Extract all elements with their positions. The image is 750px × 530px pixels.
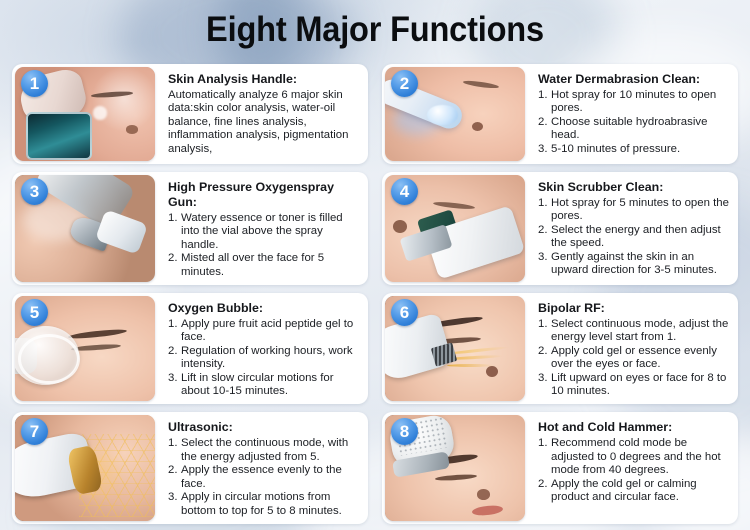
step-text: Recommend cold mode be adjusted to 0 deg… (551, 437, 730, 477)
eyebrow-shape (68, 328, 127, 340)
step-text: 5-10 minutes of pressure. (551, 143, 730, 156)
card-steps-7: 1. Select the continuous mode, with the … (168, 437, 360, 517)
step-text: Lift upward on eyes or face for 8 to 10 … (551, 372, 730, 399)
step-number: 2. (538, 345, 550, 372)
energy-wave-shape (447, 364, 495, 367)
list-item: 3. Gently against the skin in an upward … (538, 251, 730, 278)
nostril-shape (472, 122, 483, 131)
step-text: Apply cold gel or essence evenly over th… (551, 345, 730, 372)
function-grid: 1 Skin Analysis Handle: Automatically an… (12, 64, 738, 530)
list-item: 3. 5-10 minutes of pressure. (538, 143, 730, 156)
function-card-7[interactable]: 7 Ultrasonic: 1. Select the continuous m… (12, 412, 368, 523)
step-number: 1. (168, 437, 180, 464)
list-item: 3. Lift upward on eyes or face for 8 to … (538, 372, 730, 399)
card-steps-3: 1. Watery essence or toner is filled int… (168, 212, 360, 279)
bipolar-rf-photo: 6 (385, 296, 525, 401)
card-title-8: Hot and Cold Hammer: (538, 420, 730, 435)
ultrasonic-photo: 7 (15, 415, 155, 520)
step-number: 1. (538, 318, 550, 345)
badge-number-1: 1 (21, 70, 48, 97)
step-number: 2. (168, 252, 180, 279)
badge-number-6: 6 (391, 299, 418, 326)
eye-shape (90, 91, 132, 99)
energy-wave-shape (447, 346, 509, 356)
list-item: 1. Apply pure fruit acid peptide gel to … (168, 318, 360, 345)
function-row: 3 High Pressure Oxygenspray Gun: 1. Wate… (12, 172, 738, 285)
step-number: 3. (168, 372, 180, 399)
list-item: 2. Regulation of working hours, work int… (168, 345, 360, 372)
function-row: 5 Oxygen Bubble: 1. Apply pure fruit aci… (12, 293, 738, 404)
step-text: Lift in slow circular motions for about … (181, 372, 360, 399)
eye-shape (435, 473, 477, 481)
list-item: 2. Misted all over the face for 5 minute… (168, 252, 360, 279)
skin-analysis-handle-photo: 1 (15, 67, 155, 161)
highlight-shape (93, 106, 107, 119)
step-text: Gently against the skin in an upward dir… (551, 251, 730, 278)
water-dermabrasion-photo: 2 (385, 67, 525, 161)
card-title-3: High Pressure Oxygenspray Gun: (168, 180, 360, 210)
nostril-shape (477, 489, 490, 500)
list-item: 1. Hot spray for 5 minutes to open the p… (538, 197, 730, 224)
function-row: 7 Ultrasonic: 1. Select the continuous m… (12, 412, 738, 523)
nostril-shape (393, 220, 407, 233)
card-title-1: Skin Analysis Handle: (168, 72, 360, 87)
screen-shape (26, 112, 92, 160)
step-text: Apply pure fruit acid peptide gel to fac… (181, 318, 360, 345)
card-steps-4: 1. Hot spray for 5 minutes to open the p… (538, 197, 730, 277)
title-band: Eight Major Functions (0, 0, 750, 62)
nostril-shape (486, 366, 499, 378)
step-number: 2. (538, 478, 550, 505)
function-card-3[interactable]: 3 High Pressure Oxygenspray Gun: 1. Wate… (12, 172, 368, 285)
step-number: 3. (538, 251, 550, 278)
card-text-8: Hot and Cold Hammer: 1. Recommend cold m… (528, 412, 738, 523)
step-number: 3. (538, 143, 550, 156)
poster-root: Eight Major Functions 1 Skin Analysis Ha (0, 0, 750, 530)
list-item: 1. Select continuous mode, adjust the en… (538, 318, 730, 345)
step-number: 1. (538, 89, 550, 116)
list-item: 3. Apply in circular motions from bottom… (168, 491, 360, 518)
step-text: Watery essence or toner is filled into t… (181, 212, 360, 252)
step-text: Hot spray for 10 minutes to open pores. (551, 89, 730, 116)
list-item: 1. Select the continuous mode, with the … (168, 437, 360, 464)
card-steps-6: 1. Select continuous mode, adjust the en… (538, 318, 730, 398)
card-text-5: Oxygen Bubble: 1. Apply pure fruit acid … (158, 293, 368, 404)
card-title-5: Oxygen Bubble: (168, 301, 360, 316)
step-number: 2. (538, 224, 550, 251)
list-item: 2. Apply the cold gel or calming product… (538, 478, 730, 505)
step-text: Misted all over the face for 5 minutes. (181, 252, 360, 279)
card-text-3: High Pressure Oxygenspray Gun: 1. Watery… (158, 172, 368, 285)
card-title-4: Skin Scrubber Clean: (538, 180, 730, 195)
function-card-4[interactable]: 4 Skin Scrubber Clean: 1. Hot spray for … (382, 172, 738, 285)
badge-number-3: 3 (21, 178, 48, 205)
function-card-5[interactable]: 5 Oxygen Bubble: 1. Apply pure fruit aci… (12, 293, 368, 404)
function-card-2[interactable]: 2 Water Dermabrasion Clean: 1. Hot spray… (382, 64, 738, 164)
oxygen-bubble-photo: 5 (15, 296, 155, 401)
list-item: 2. Apply the essence evenly to the face. (168, 464, 360, 491)
card-title-2: Water Dermabrasion Clean: (538, 72, 730, 87)
step-text: Apply the essence evenly to the face. (181, 464, 360, 491)
function-card-1[interactable]: 1 Skin Analysis Handle: Automatically an… (12, 64, 368, 164)
card-text-7: Ultrasonic: 1. Select the continuous mod… (158, 412, 368, 523)
step-text: Choose suitable hydroabrasive head. (551, 116, 730, 143)
function-card-6[interactable]: 6 Bipolar RF: 1. Select continuous mode,… (382, 293, 738, 404)
list-item: 2. Select the energy and then adjust the… (538, 224, 730, 251)
card-text-6: Bipolar RF: 1. Select continuous mode, a… (528, 293, 738, 404)
list-item: 3. Lift in slow circular motions for abo… (168, 372, 360, 399)
step-number: 1. (538, 437, 550, 477)
step-number: 1. (168, 318, 180, 345)
step-text: Apply the cold gel or calming product an… (551, 478, 730, 505)
function-row: 1 Skin Analysis Handle: Automatically an… (12, 64, 738, 164)
card-title-7: Ultrasonic: (168, 420, 360, 435)
card-steps-5: 1. Apply pure fruit acid peptide gel to … (168, 318, 360, 398)
badge-number-5: 5 (21, 299, 48, 326)
function-card-8[interactable]: 8 Hot and Cold Hammer: 1. Recommend cold… (382, 412, 738, 523)
step-text: Apply in circular motions from bottom to… (181, 491, 360, 518)
step-text: Select the energy and then adjust the sp… (551, 224, 730, 251)
list-item: 1. Hot spray for 10 minutes to open pore… (538, 89, 730, 116)
step-number: 2. (538, 116, 550, 143)
card-text-1: Skin Analysis Handle: Automatically anal… (158, 64, 368, 164)
step-number: 3. (168, 491, 180, 518)
page-title: Eight Major Functions (26, 8, 724, 52)
list-item: 2. Apply cold gel or essence evenly over… (538, 345, 730, 372)
card-steps-2: 1. Hot spray for 10 minutes to open pore… (538, 89, 730, 156)
ring-shape (18, 334, 80, 384)
step-text: Regulation of working hours, work intens… (181, 345, 360, 372)
step-number: 3. (538, 372, 550, 399)
badge-number-4: 4 (391, 178, 418, 205)
step-number: 2. (168, 464, 180, 491)
step-number: 1. (538, 197, 550, 224)
skin-scrubber-photo: 4 (385, 175, 525, 282)
step-number: 2. (168, 345, 180, 372)
eye-shape (463, 80, 500, 90)
device-tip-shape (427, 105, 458, 126)
eye-shape (432, 201, 474, 211)
list-item: 1. Recommend cold mode be adjusted to 0 … (538, 437, 730, 477)
card-body-1: Automatically analyze 6 major skin data:… (168, 89, 360, 156)
list-item: 1. Watery essence or toner is filled int… (168, 212, 360, 252)
step-text: Select continuous mode, adjust the energ… (551, 318, 730, 345)
step-text: Hot spray for 5 minutes to open the pore… (551, 197, 730, 224)
card-text-4: Skin Scrubber Clean: 1. Hot spray for 5 … (528, 172, 738, 285)
badge-number-2: 2 (391, 70, 418, 97)
list-item: 2. Choose suitable hydroabrasive head. (538, 116, 730, 143)
step-number: 1. (168, 212, 180, 252)
card-steps-8: 1. Recommend cold mode be adjusted to 0 … (538, 437, 730, 504)
lip-shape (471, 505, 503, 518)
nostril-shape (126, 125, 139, 133)
card-title-6: Bipolar RF: (538, 301, 730, 316)
oxygen-spray-gun-photo: 3 (15, 175, 155, 282)
step-text: Select the continuous mode, with the ene… (181, 437, 360, 464)
hot-cold-hammer-photo: 8 (385, 415, 525, 520)
card-text-2: Water Dermabrasion Clean: 1. Hot spray f… (528, 64, 738, 164)
